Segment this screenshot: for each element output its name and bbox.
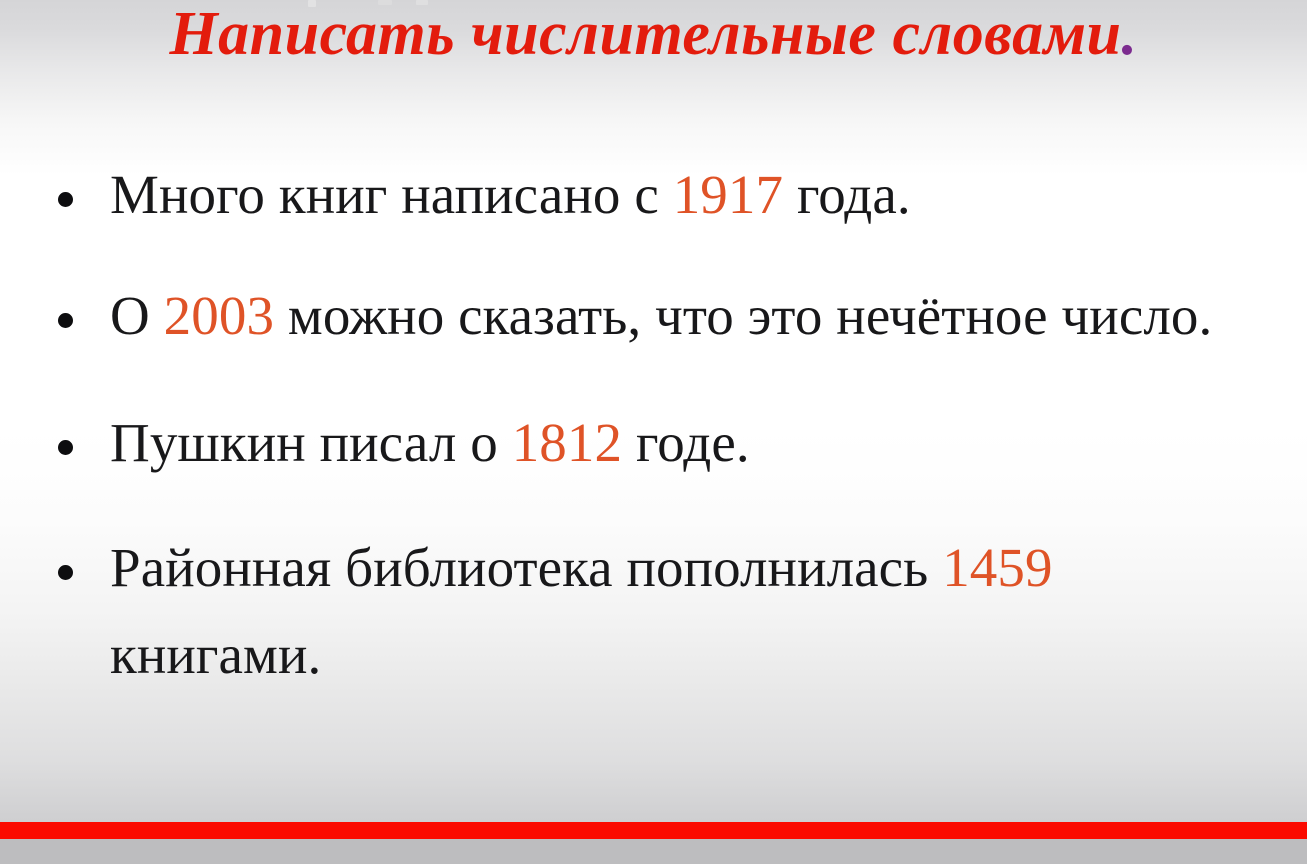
bullet-3-suffix: годе. [622, 412, 750, 473]
round-bullet-icon [58, 565, 73, 580]
bottom-red-bar [0, 822, 1307, 839]
bullet-4-text: Районная библиотека пополнилась 1459 кни… [110, 537, 1053, 685]
list-item: О 2003 можно сказать, что это нечётное ч… [44, 273, 1274, 360]
slide-title: Написать числительные словами. [169, 3, 1137, 65]
bullet-list: Много книг написано с 1917 года. О 2003 … [44, 152, 1274, 698]
list-item: Районная библиотека пополнилась 1459 кни… [44, 525, 1274, 699]
bullet-4-suffix: книгами. [110, 624, 321, 685]
slide-title-text: Написать числительные словами [169, 0, 1121, 68]
list-item: Много книг написано с 1917 года. [44, 152, 1274, 239]
bullet-4-number: 1459 [942, 537, 1052, 598]
bullet-2-suffix: можно сказать, что это нечётное число. [274, 285, 1212, 346]
bullet-4-prefix: Районная библиотека пополнилась [110, 537, 942, 598]
slide-title-period: . [1122, 0, 1138, 68]
list-item: Пушкин писал о 1812 годе. [44, 400, 1274, 487]
bullet-2-prefix: О [110, 285, 164, 346]
bullet-3-prefix: Пушкин писал о [110, 412, 512, 473]
bullet-1-suffix: года. [783, 164, 911, 225]
bullet-1-number: 1917 [673, 164, 783, 225]
round-bullet-icon [58, 440, 73, 455]
round-bullet-icon [58, 192, 73, 207]
bullet-1-prefix: Много книг написано с [110, 164, 673, 225]
presentation-slide: Написать числительные словами. Много кни… [0, 0, 1307, 864]
bullet-3-text: Пушкин писал о 1812 годе. [110, 412, 750, 473]
bullet-2-text: О 2003 можно сказать, что это нечётное ч… [110, 285, 1212, 346]
round-bullet-icon [58, 313, 73, 328]
bullet-1-text: Много книг написано с 1917 года. [110, 164, 911, 225]
slide-title-container: Написать числительные словами. [0, 0, 1307, 72]
bullet-3-number: 1812 [512, 412, 622, 473]
bullet-2-number: 2003 [164, 285, 274, 346]
